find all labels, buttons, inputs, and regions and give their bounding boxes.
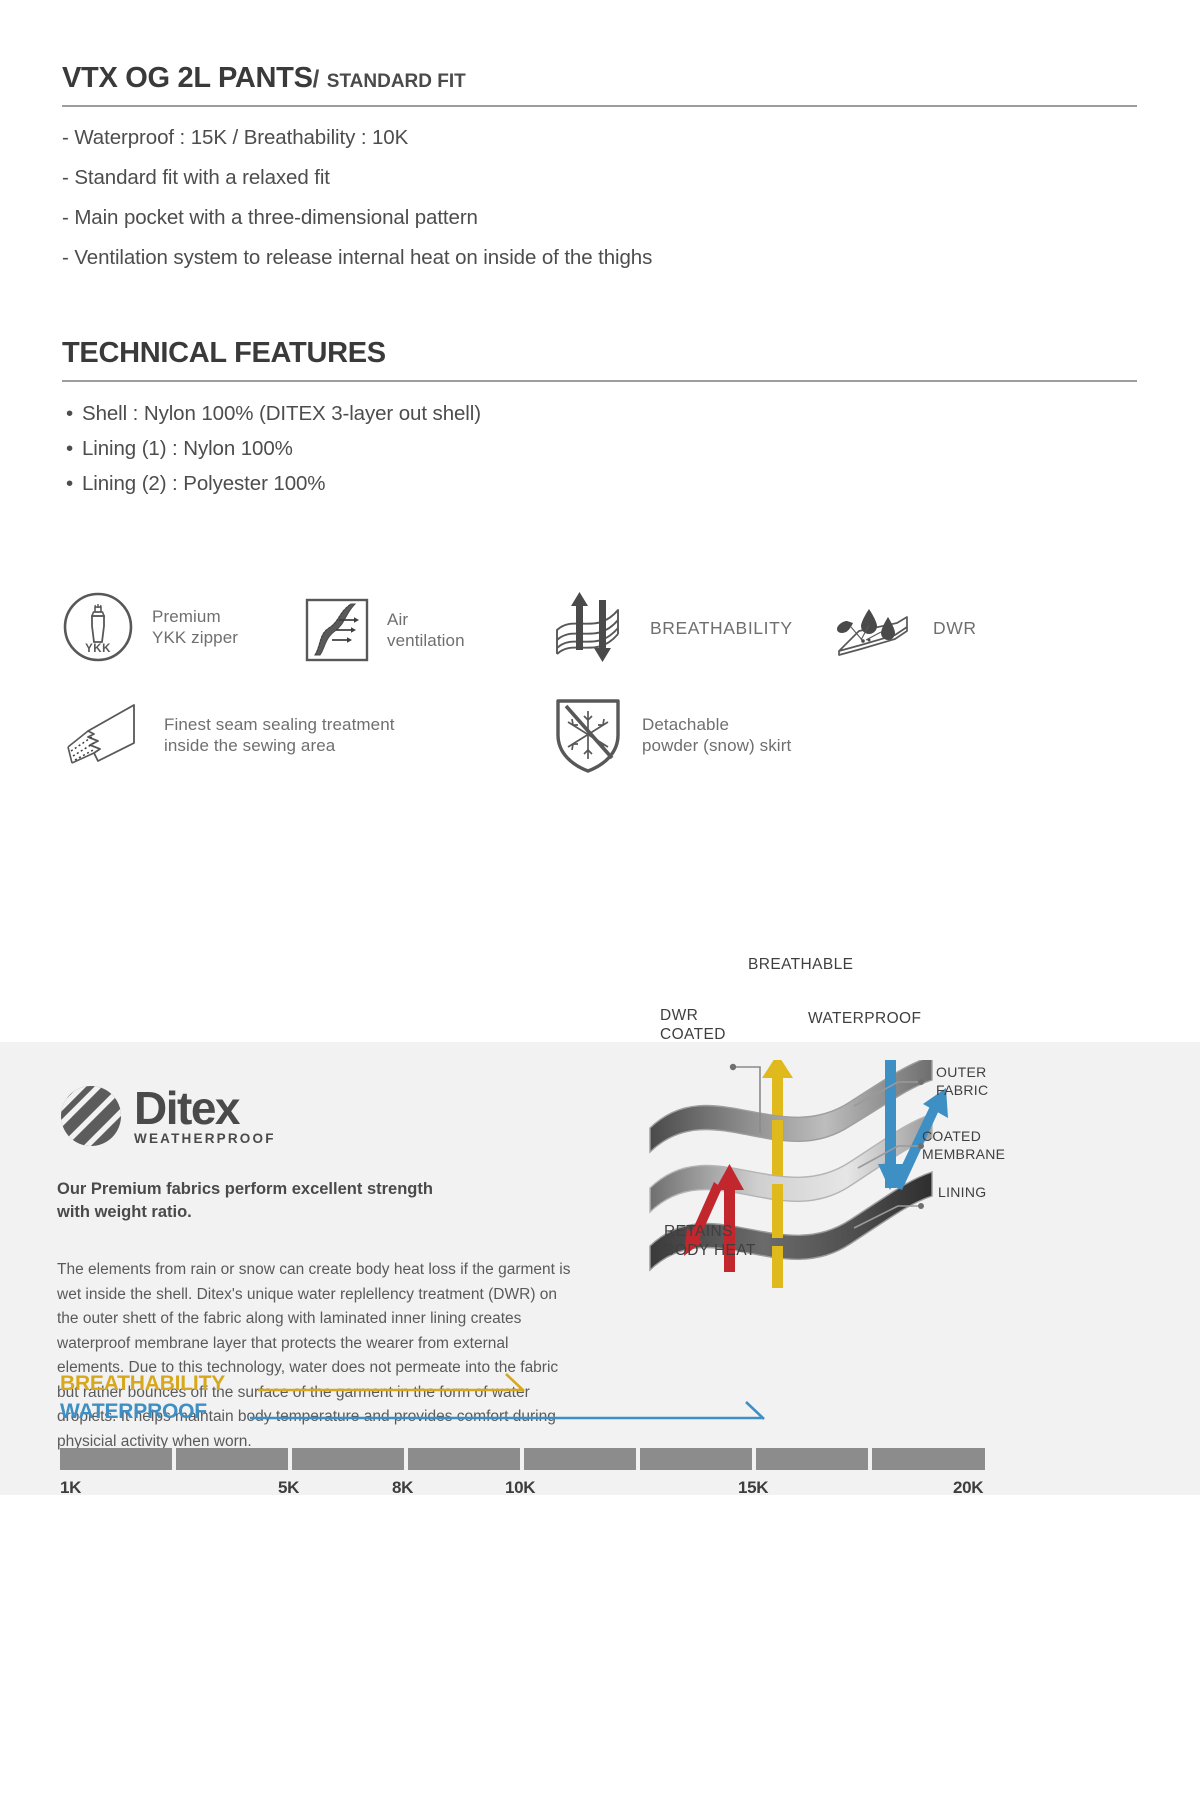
section-heading: TECHNICAL FEATURES bbox=[62, 337, 1137, 380]
ditex-brand: Ditex bbox=[134, 1086, 276, 1130]
scale-segment bbox=[872, 1448, 985, 1470]
bullet-dot-icon: • bbox=[66, 396, 82, 431]
seam-sealing-icon bbox=[62, 701, 146, 769]
diagram-label-breathable: BREATHABLE bbox=[748, 955, 853, 974]
svg-text:YKK: YKK bbox=[85, 643, 111, 655]
scale-legend-breathability: BREATHABILITY bbox=[60, 1372, 225, 1396]
feature-snow-skirt: Detachable powder (snow) skirt bbox=[552, 693, 882, 777]
performance-arrows bbox=[250, 1364, 950, 1436]
ditex-mark-icon bbox=[60, 1085, 122, 1147]
product-title-block: VTX OG 2L PANTS/ STANDARD FIT bbox=[62, 62, 1137, 107]
dwr-droplet-icon bbox=[833, 595, 915, 661]
tick-label: 5K bbox=[278, 1478, 299, 1498]
ykk-zipper-icon: YKK bbox=[62, 591, 134, 663]
scale-segment bbox=[524, 1448, 636, 1470]
waterproof-arrow bbox=[250, 1402, 764, 1419]
feature-label: Air ventilation bbox=[387, 609, 465, 651]
product-bullets: - Waterproof : 15K / Breathability : 10K… bbox=[62, 118, 652, 278]
list-item: •Lining (1) : Nylon 100% bbox=[66, 431, 481, 466]
snow-skirt-shield-icon bbox=[552, 695, 624, 775]
diagram-label-lining: LINING bbox=[938, 1183, 986, 1201]
ditex-lede: Our Premium fabrics perform excellent st… bbox=[57, 1178, 637, 1224]
diagram-label-coated-membrane: COATED MEMBRANE bbox=[922, 1127, 1005, 1163]
bullet-dot-icon: • bbox=[66, 431, 82, 466]
list-item-label: Lining (1) : Nylon 100% bbox=[82, 437, 293, 460]
list-item: •Shell : Nylon 100% (DITEX 3-layer out s… bbox=[66, 396, 481, 431]
ditex-tagline: WEATHERPROOF bbox=[134, 1131, 276, 1146]
scale-segment bbox=[292, 1448, 404, 1470]
product-name: VTX OG 2L PANTS bbox=[62, 62, 313, 94]
scale-legend-waterproof: WATERPROOF bbox=[60, 1400, 207, 1424]
list-item: •Lining (2) : Polyester 100% bbox=[66, 466, 481, 501]
diagram-label-dwr-coated: DWR COATED bbox=[660, 1006, 726, 1044]
product-fit: STANDARD FIT bbox=[327, 71, 466, 92]
air-ventilation-icon bbox=[305, 598, 369, 662]
ditex-wordmark: Ditex WEATHERPROOF bbox=[134, 1086, 276, 1146]
bullet-dot-icon: • bbox=[66, 466, 82, 501]
list-item: - Waterproof : 15K / Breathability : 10K bbox=[62, 118, 652, 158]
scale-segment bbox=[756, 1448, 868, 1470]
feature-ykk-zipper: YKK Premium YKK zipper bbox=[62, 585, 302, 669]
tick-label: 15K bbox=[738, 1478, 768, 1498]
scale-segment bbox=[176, 1448, 288, 1470]
feature-label: Premium YKK zipper bbox=[152, 606, 238, 648]
breathability-arrow bbox=[258, 1374, 524, 1391]
diagram-label-retains-body-heat: RETAINS BODY HEAT bbox=[664, 1222, 756, 1260]
technical-features-list: •Shell : Nylon 100% (DITEX 3-layer out s… bbox=[66, 396, 481, 501]
title-separator: / bbox=[313, 66, 319, 93]
section-divider bbox=[62, 380, 1137, 382]
diagram-label-waterproof: WATERPROOF bbox=[808, 1009, 921, 1028]
feature-label: DWR bbox=[933, 618, 977, 639]
feature-label: Finest seam sealing treatment inside the… bbox=[164, 714, 395, 756]
list-item: - Main pocket with a three-dimensional p… bbox=[62, 198, 652, 238]
list-item: - Ventilation system to release internal… bbox=[62, 238, 652, 278]
tick-label: 1K bbox=[60, 1478, 81, 1498]
scale-segment bbox=[640, 1448, 752, 1470]
dwr-coated-leader bbox=[700, 1055, 820, 1145]
list-item-label: Lining (2) : Polyester 100% bbox=[82, 472, 325, 495]
ditex-logo: Ditex WEATHERPROOF bbox=[60, 1085, 276, 1147]
feature-breathability: BREATHABILITY bbox=[552, 586, 812, 670]
page-title: VTX OG 2L PANTS/ STANDARD FIT bbox=[62, 62, 1137, 105]
tick-label: 20K bbox=[953, 1478, 983, 1498]
tick-label: 10K bbox=[505, 1478, 535, 1498]
scale-segment bbox=[408, 1448, 520, 1470]
feature-seam-sealing: Finest seam sealing treatment inside the… bbox=[62, 695, 482, 775]
scale-segment bbox=[60, 1448, 172, 1470]
feature-air-ventilation: Air ventilation bbox=[305, 590, 535, 670]
breathability-icon bbox=[552, 590, 632, 666]
diagram-label-outer-fabric: OUTER FABRIC bbox=[936, 1063, 988, 1099]
title-divider bbox=[62, 105, 1137, 107]
technical-features-title-block: TECHNICAL FEATURES bbox=[62, 337, 1137, 382]
feature-dwr: DWR bbox=[833, 588, 1043, 668]
feature-label: Detachable powder (snow) skirt bbox=[642, 714, 791, 756]
product-spec-sheet: VTX OG 2L PANTS/ STANDARD FIT - Waterpro… bbox=[0, 0, 1200, 1800]
list-item: - Standard fit with a relaxed fit bbox=[62, 158, 652, 198]
tick-label: 8K bbox=[392, 1478, 413, 1498]
feature-label: BREATHABILITY bbox=[650, 618, 793, 639]
list-item-label: Shell : Nylon 100% (DITEX 3-layer out sh… bbox=[82, 402, 481, 425]
